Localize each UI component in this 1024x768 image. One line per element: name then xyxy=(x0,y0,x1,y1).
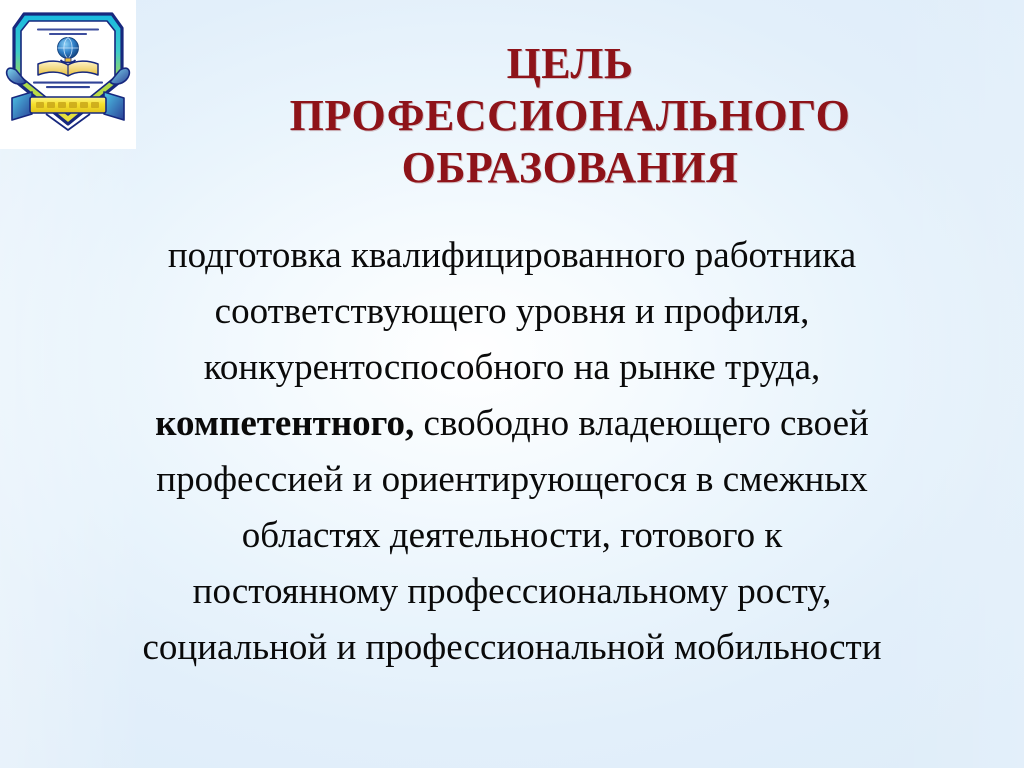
body-line: подготовка квалифицированного работника xyxy=(22,228,1002,284)
body-line-text: социальной и профессиональной мобильност… xyxy=(142,627,881,668)
body-line: соответствующего уровня и профиля, xyxy=(22,284,1002,340)
emblem-icon xyxy=(2,2,134,147)
body-line: конкурентоспособного на рынке труда, xyxy=(22,340,1002,396)
body-line-text: свободно владеющего своей xyxy=(414,403,869,444)
title-line-3: ОБРАЗОВАНИЯ xyxy=(140,142,1000,194)
body-line: социальной и профессиональной мобильност… xyxy=(22,620,1002,676)
title-line-2: ПРОФЕССИОНАЛЬНОГО xyxy=(140,90,1000,142)
body-text: подготовка квалифицированного работника … xyxy=(22,228,1002,676)
body-line-text: подготовка квалифицированного работника xyxy=(168,235,856,276)
body-line: областях деятельности, готового к xyxy=(22,508,1002,564)
body-line-text: соответствующего уровня и профиля, xyxy=(215,291,810,332)
body-line-bold: компетентного, xyxy=(155,403,414,444)
body-line-text: областях деятельности, готового к xyxy=(242,515,783,556)
body-line-text: постоянному профессиональному росту, xyxy=(193,571,832,612)
page-title: ЦЕЛЬ ПРОФЕССИОНАЛЬНОГО ОБРАЗОВАНИЯ xyxy=(140,38,1000,194)
body-line-text: профессией и ориентирующегося в смежных xyxy=(156,459,867,500)
slide-canvas: ЦЕЛЬ ПРОФЕССИОНАЛЬНОГО ОБРАЗОВАНИЯ подго… xyxy=(0,0,1024,768)
body-line: постоянному профессиональному росту, xyxy=(22,564,1002,620)
body-line-text: конкурентоспособного на рынке труда, xyxy=(204,347,821,388)
body-line: компетентного, свободно владеющего своей xyxy=(22,396,1002,452)
title-line-1: ЦЕЛЬ xyxy=(140,38,1000,90)
body-line: профессией и ориентирующегося в смежных xyxy=(22,452,1002,508)
organization-logo xyxy=(0,0,136,149)
